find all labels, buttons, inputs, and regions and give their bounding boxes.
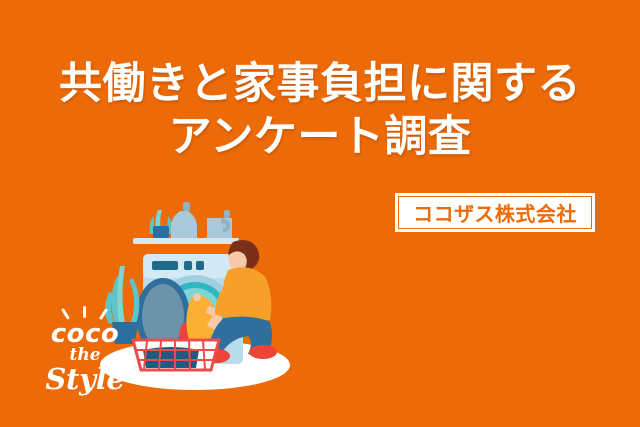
washer-display-icon: [152, 261, 178, 270]
washer-button-2-icon: [196, 261, 204, 270]
promo-banner: 共働きと家事負担に関する アンケート調査 ココザス株式会社 coco the S…: [0, 0, 640, 427]
laundry-basket-icon: [133, 340, 219, 370]
company-name-label: ココザス株式会社: [413, 198, 577, 227]
company-badge: ココザス株式会社: [395, 193, 595, 232]
logo-word-coco: coco: [30, 320, 140, 348]
adult-shoe-right-icon: [249, 345, 277, 359]
cactus-icon: [150, 210, 173, 238]
detergent-jug-icon: [207, 210, 232, 238]
title-line-1: 共働きと家事負担に関する: [0, 58, 640, 111]
brand-logo: coco the Style: [30, 306, 140, 401]
detergent-bottle-icon: [171, 202, 197, 238]
page-title: 共働きと家事負担に関する アンケート調査: [0, 58, 640, 164]
washer-button-1-icon: [184, 261, 192, 270]
title-line-2: アンケート調査: [0, 111, 640, 164]
shelf-icon: [133, 238, 239, 244]
logo-word-style: Style: [30, 363, 140, 396]
